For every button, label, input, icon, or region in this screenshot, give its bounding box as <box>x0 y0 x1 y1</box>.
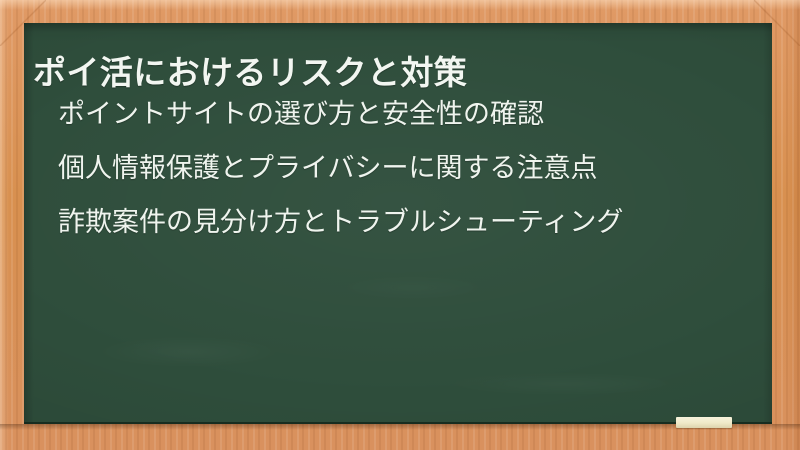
chalkboard-surface: ポイ活におけるリスクと対策 ポイントサイトの選び方と安全性の確認 個人情報保護と… <box>24 23 772 424</box>
blackboard-slide: ポイ活におけるリスクと対策 ポイントサイトの選び方と安全性の確認 個人情報保護と… <box>0 0 800 450</box>
bullet-item-3: 詐欺案件の見分け方とトラブルシューティング <box>58 209 623 236</box>
bullet-list: ポイントサイトの選び方と安全性の確認 個人情報保護とプライバシーに関する注意点 … <box>58 101 623 236</box>
chalk-stick-icon <box>676 417 732 428</box>
bullet-item-2: 個人情報保護とプライバシーに関する注意点 <box>58 155 623 182</box>
slide-title: ポイ活におけるリスクと対策 <box>33 54 467 93</box>
bullet-item-1: ポイントサイトの選び方と安全性の確認 <box>58 101 623 128</box>
